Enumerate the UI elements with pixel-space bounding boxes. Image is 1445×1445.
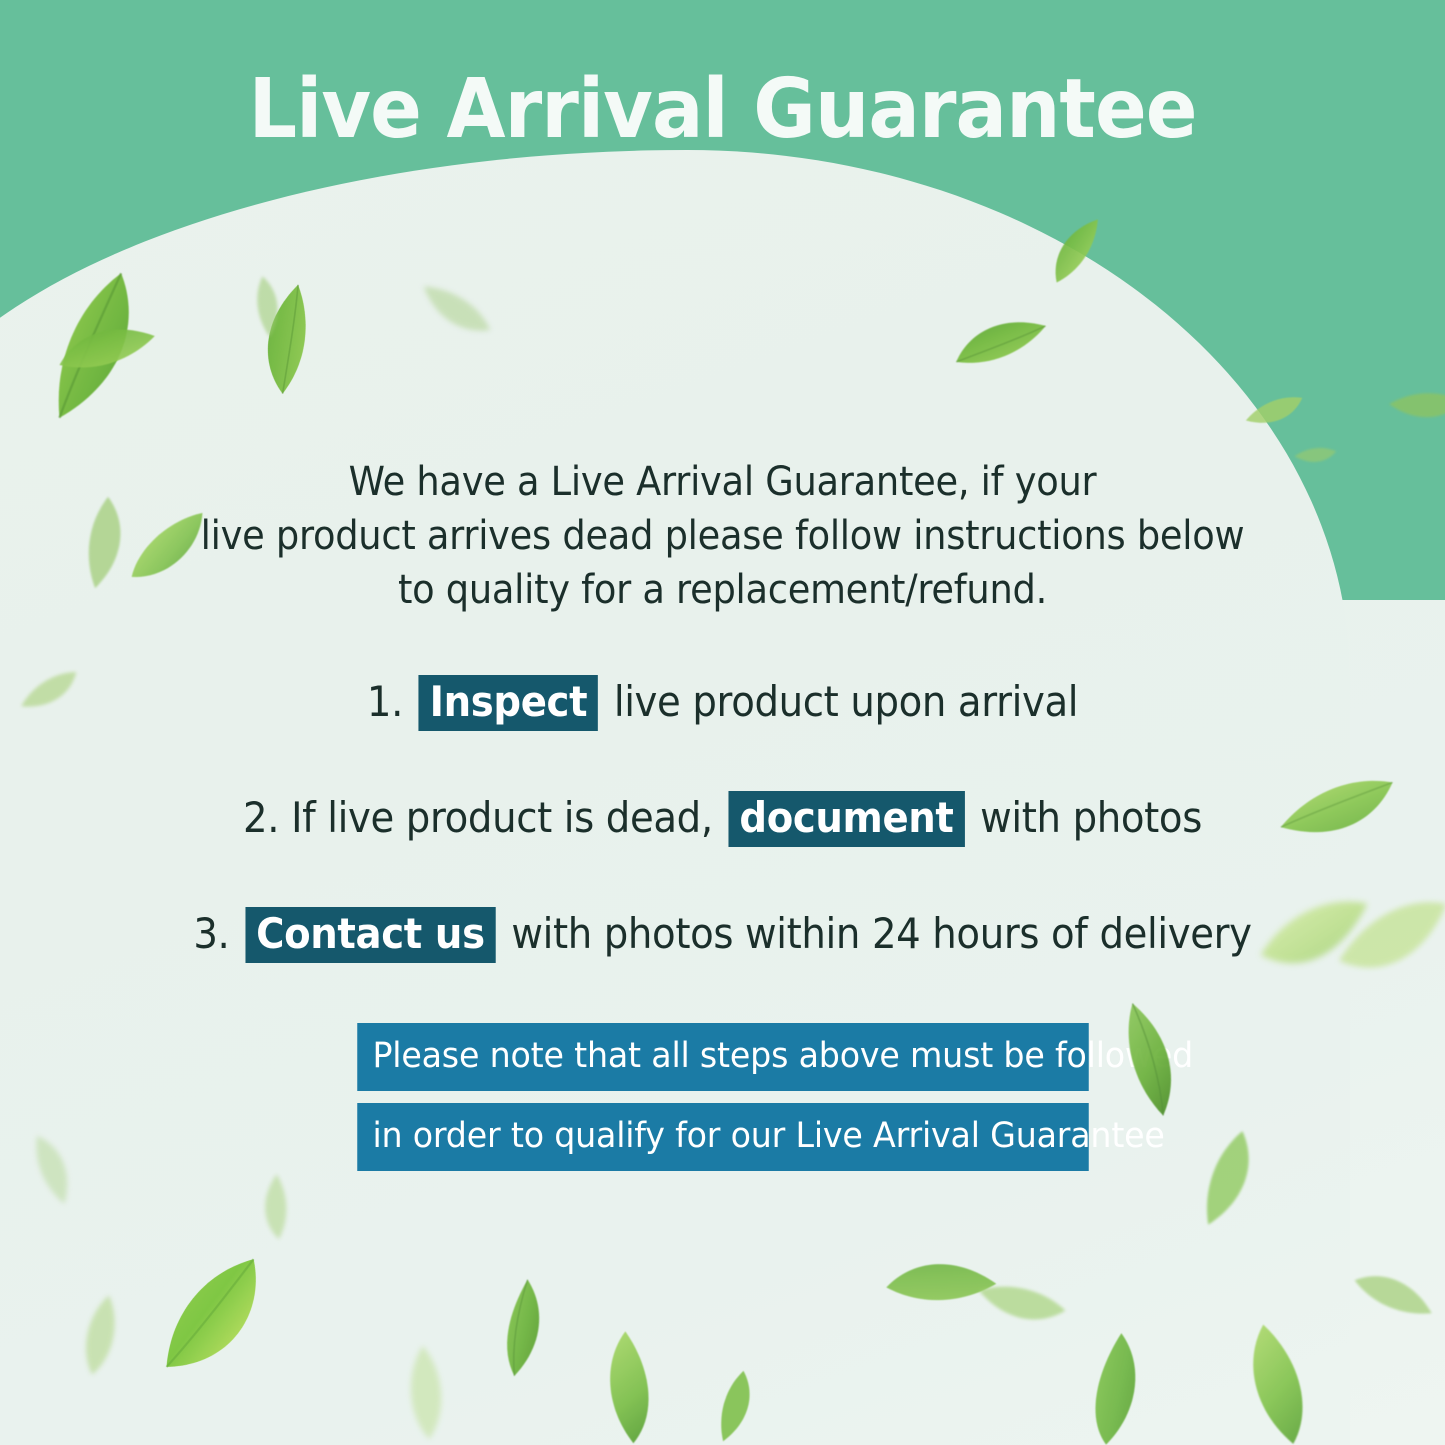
intro-line-1: We have a Live Arrival Guarantee, if you… <box>58 455 1387 509</box>
step-highlight-contact-us[interactable]: Contact us <box>245 907 496 963</box>
footer-note-line-2: in order to qualify for our Live Arrival… <box>357 1103 1089 1171</box>
intro-paragraph: We have a Live Arrival Guarantee, if you… <box>58 455 1387 617</box>
step-item-3: 3. Contact us with photos within 24 hour… <box>58 907 1387 963</box>
intro-line-2: live product arrives dead please follow … <box>58 509 1387 563</box>
page-title: Live Arrival Guarantee <box>51 62 1395 157</box>
footer-note-line-1: Please note that all steps above must be… <box>357 1023 1089 1091</box>
step-text-after: with photos within 24 hours of delivery <box>511 909 1251 958</box>
steps-list: 1. Inspect live product upon arrival 2. … <box>0 675 1445 963</box>
step-text-before: If live product is dead, <box>291 793 713 842</box>
step-text-after: with photos <box>980 793 1202 842</box>
live-arrival-guarantee-poster: Live Arrival Guarantee We have a Live Ar… <box>0 0 1445 1445</box>
step-highlight-document[interactable]: document <box>728 791 964 847</box>
step-number: 2. <box>243 793 279 842</box>
step-text-after: live product upon arrival <box>614 677 1078 726</box>
step-number: 3. <box>193 909 229 958</box>
step-highlight-inspect[interactable]: Inspect <box>419 675 599 731</box>
leaf-icon <box>1342 1242 1445 1348</box>
intro-line-3: to quality for a replacement/refund. <box>58 563 1387 617</box>
main-content: We have a Live Arrival Guarantee, if you… <box>0 455 1445 1183</box>
footer-note: Please note that all steps above must be… <box>0 1023 1445 1171</box>
step-number: 1. <box>367 677 403 726</box>
step-item-1: 1. Inspect live product upon arrival <box>58 675 1387 731</box>
step-item-2: 2. If live product is dead, document wit… <box>58 791 1387 847</box>
